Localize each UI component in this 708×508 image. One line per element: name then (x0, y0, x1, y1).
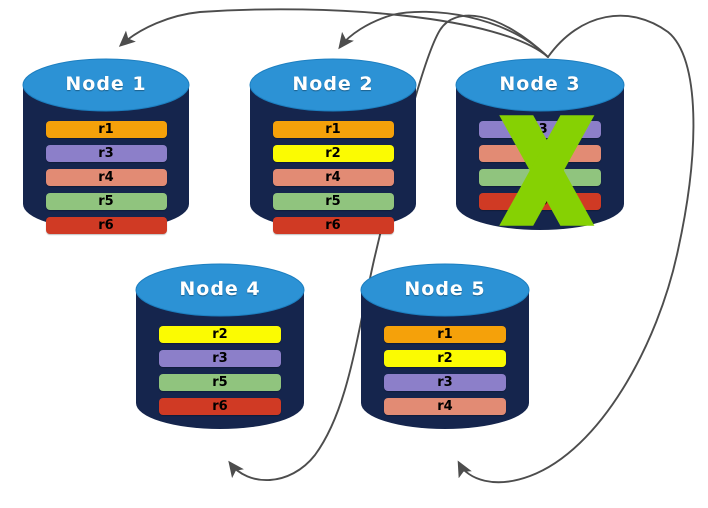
arrow-node3-to-node2 (340, 12, 548, 57)
arrow-node3-to-node1 (121, 9, 548, 57)
node-2-replica-r4[interactable]: r4 (273, 169, 394, 186)
node-2[interactable]: Node 2r1r2r4r5r6 (249, 58, 417, 232)
node-2-replica-r6[interactable]: r6 (273, 217, 394, 234)
node-2-replica-r1[interactable]: r1 (273, 121, 394, 138)
node-1-replica-r3[interactable]: r3 (46, 145, 167, 162)
node-2-top-ellipse (250, 59, 416, 111)
node-3-replica-r5[interactable]: r5 (479, 169, 601, 186)
node-2-replica-list: r1r2r4r5r6 (249, 121, 417, 241)
node-1-replica-r1[interactable]: r1 (46, 121, 167, 138)
node-5-replica-r2[interactable]: r2 (384, 350, 506, 367)
node-5-replica-list: r1r2r3r4 (360, 326, 530, 422)
node-5-replica-r4[interactable]: r4 (384, 398, 506, 415)
node-1-replica-list: r1r3r4r5r6 (22, 121, 190, 241)
node-4-replica-r5[interactable]: r5 (159, 374, 281, 391)
diagram-canvas: Node 1r1r3r4r5r6Node 2r1r2r4r5r6Node 3r3… (0, 0, 708, 508)
node-1-replica-r4[interactable]: r4 (46, 169, 167, 186)
node-1-replica-r6[interactable]: r6 (46, 217, 167, 234)
node-5-replica-r1[interactable]: r1 (384, 326, 506, 343)
node-4-replica-r6[interactable]: r6 (159, 398, 281, 415)
node-1-replica-r5[interactable]: r5 (46, 193, 167, 210)
node-3[interactable]: Node 3r3r4r5r6 (455, 58, 625, 232)
node-4-replica-r3[interactable]: r3 (159, 350, 281, 367)
node-3-replica-list: r3r4r5r6 (455, 121, 625, 217)
node-3-replica-r3[interactable]: r3 (479, 121, 601, 138)
node-5-top-ellipse (361, 264, 529, 316)
node-1-top-ellipse (23, 59, 189, 111)
node-1[interactable]: Node 1r1r3r4r5r6 (22, 58, 190, 232)
node-5-replica-r3[interactable]: r3 (384, 374, 506, 391)
node-4-replica-r2[interactable]: r2 (159, 326, 281, 343)
node-5[interactable]: Node 5r1r2r3r4 (360, 263, 530, 431)
node-4-replica-list: r2r3r5r6 (135, 326, 305, 422)
node-3-replica-r4[interactable]: r4 (479, 145, 601, 162)
node-4-top-ellipse (136, 264, 304, 316)
node-2-replica-r2[interactable]: r2 (273, 145, 394, 162)
node-2-replica-r5[interactable]: r5 (273, 193, 394, 210)
node-4[interactable]: Node 4r2r3r5r6 (135, 263, 305, 431)
node-3-replica-r6[interactable]: r6 (479, 193, 601, 210)
node-3-top-ellipse (456, 59, 624, 111)
